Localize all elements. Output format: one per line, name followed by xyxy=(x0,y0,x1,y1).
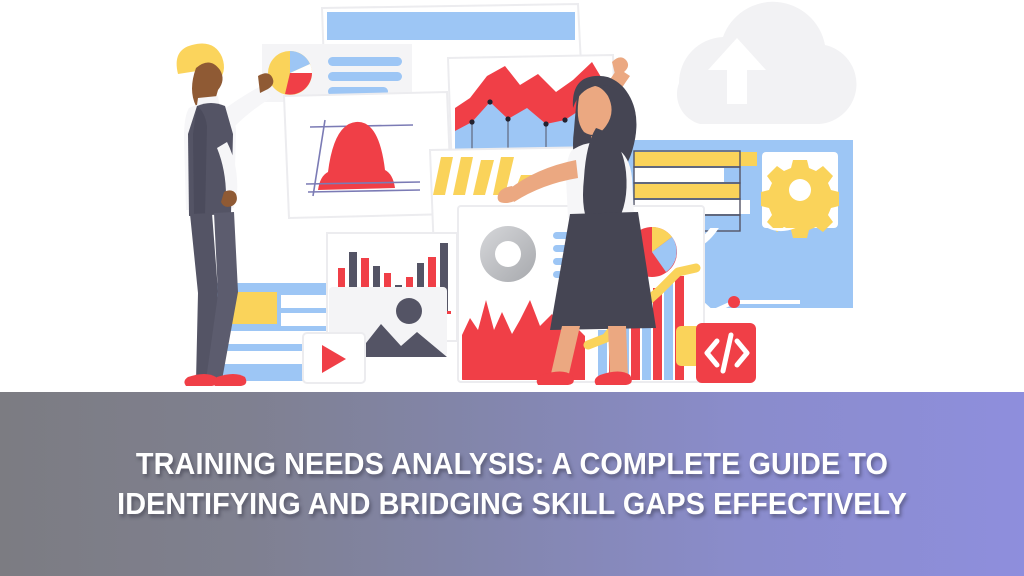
card-video xyxy=(303,333,365,383)
illustration-svg xyxy=(0,0,1024,400)
page-title-line-2: IDENTIFYING AND BRIDGING SKILL GAPS EFFE… xyxy=(75,484,949,524)
page-title: TRAINING NEEDS ANALYSIS: A COMPLETE GUID… xyxy=(75,444,949,523)
page-title-line-1: TRAINING NEEDS ANALYSIS: A COMPLETE GUID… xyxy=(75,444,949,484)
banner-image: TRAINING NEEDS ANALYSIS: A COMPLETE GUID… xyxy=(0,0,1024,576)
title-banner: TRAINING NEEDS ANALYSIS: A COMPLETE GUID… xyxy=(0,392,1024,576)
illustration xyxy=(0,0,1024,400)
pie-chart-icon xyxy=(268,51,312,95)
gear-icon xyxy=(761,160,839,238)
gear-tile xyxy=(761,152,839,238)
card-bell-curve xyxy=(284,92,452,218)
cloud-upload-icon xyxy=(677,2,857,124)
donut-chart-icon xyxy=(480,226,536,282)
